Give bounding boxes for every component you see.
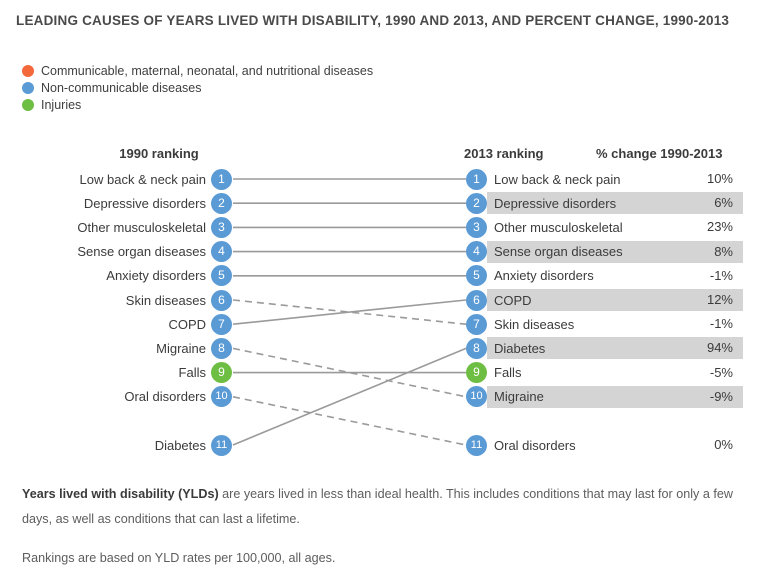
cause-label-2013: Low back & neck pain bbox=[494, 172, 620, 187]
rank-bubble-right-2[interactable]: 2 bbox=[466, 193, 487, 214]
row-content: 1Low back & neck pain10% bbox=[466, 168, 743, 190]
pct-change-value: 12% bbox=[707, 289, 733, 311]
pct-change-value: -5% bbox=[710, 362, 733, 384]
link-6-to-7 bbox=[233, 300, 466, 324]
row-content: 8Diabetes94% bbox=[466, 337, 743, 359]
ranking-row-1990[interactable]: Migraine8 bbox=[40, 337, 232, 359]
ranking-row-2013[interactable]: 3Other musculoskeletal23% bbox=[466, 216, 743, 238]
page-title: LEADING CAUSES OF YEARS LIVED WITH DISAB… bbox=[16, 8, 752, 34]
rank-bubble-left-11[interactable]: 11 bbox=[211, 435, 232, 456]
cause-label-2013: Migraine bbox=[494, 389, 544, 404]
cause-label-1990: Sense organ diseases bbox=[77, 244, 206, 259]
rank-bubble-left-8[interactable]: 8 bbox=[211, 338, 232, 359]
cause-label-2013: Sense organ diseases bbox=[494, 244, 623, 259]
rank-bubble-left-4[interactable]: 4 bbox=[211, 241, 232, 262]
cause-label-2013: Diabetes bbox=[494, 341, 545, 356]
ranking-row-2013[interactable]: 4Sense organ diseases8% bbox=[466, 241, 743, 263]
ranking-row-2013[interactable]: 11Oral disorders0% bbox=[466, 434, 743, 456]
ranking-row-2013[interactable]: 8Diabetes94% bbox=[466, 337, 743, 359]
rank-bubble-left-1[interactable]: 1 bbox=[211, 169, 232, 190]
rank-bubble-left-7[interactable]: 7 bbox=[211, 314, 232, 335]
ranking-row-2013[interactable]: 5Anxiety disorders-1% bbox=[466, 265, 743, 287]
cause-label-2013: Oral disorders bbox=[494, 438, 576, 453]
row-content: 3Other musculoskeletal23% bbox=[466, 216, 743, 238]
column-header-2013: 2013 ranking bbox=[464, 146, 544, 161]
cause-label-1990: COPD bbox=[168, 317, 206, 332]
pct-change-value: -1% bbox=[710, 265, 733, 287]
rank-bubble-right-7[interactable]: 7 bbox=[466, 314, 487, 335]
legend-item: Injuries bbox=[22, 97, 522, 112]
legend-color-dot bbox=[22, 99, 34, 111]
ranking-row-2013[interactable]: 7Skin diseases-1% bbox=[466, 313, 743, 335]
row-content: 6COPD12% bbox=[466, 289, 743, 311]
row-content: 10Migraine-9% bbox=[466, 386, 743, 408]
ranking-row-1990[interactable]: Other musculoskeletal3 bbox=[40, 216, 232, 238]
ranking-row-2013[interactable]: 1Low back & neck pain10% bbox=[466, 168, 743, 190]
rank-bubble-left-6[interactable]: 6 bbox=[211, 290, 232, 311]
note-definition: Years lived with disability (YLDs) are y… bbox=[22, 482, 750, 532]
cause-label-1990: Other musculoskeletal bbox=[77, 220, 206, 235]
legend-item: Communicable, maternal, neonatal, and nu… bbox=[22, 63, 522, 78]
ranking-row-2013[interactable]: 10Migraine-9% bbox=[466, 386, 743, 408]
pct-change-value: 6% bbox=[714, 192, 733, 214]
ranking-row-2013[interactable]: 9Falls-5% bbox=[466, 362, 743, 384]
link-11-to-8 bbox=[233, 348, 466, 445]
cause-label-2013: Falls bbox=[494, 365, 521, 380]
footnotes: Years lived with disability (YLDs) are y… bbox=[22, 482, 750, 585]
ranking-row-1990[interactable]: Anxiety disorders5 bbox=[40, 265, 232, 287]
rank-bubble-left-2[interactable]: 2 bbox=[211, 193, 232, 214]
cause-label-1990: Low back & neck pain bbox=[80, 172, 206, 187]
ranking-row-1990[interactable]: Falls9 bbox=[40, 362, 232, 384]
pct-change-value: -9% bbox=[710, 386, 733, 408]
ranking-row-1990[interactable]: Sense organ diseases4 bbox=[40, 241, 232, 263]
rank-bubble-right-8[interactable]: 8 bbox=[466, 338, 487, 359]
rank-bubble-right-6[interactable]: 6 bbox=[466, 290, 487, 311]
cause-label-1990: Diabetes bbox=[155, 438, 206, 453]
cause-label-1990: Depressive disorders bbox=[84, 196, 206, 211]
cause-label-1990: Oral disorders bbox=[124, 389, 206, 404]
row-content: 2Depressive disorders6% bbox=[466, 192, 743, 214]
rank-bubble-right-10[interactable]: 10 bbox=[466, 386, 487, 407]
pct-change-value: 23% bbox=[707, 216, 733, 238]
cause-label-1990: Falls bbox=[179, 365, 206, 380]
link-10-to-11 bbox=[233, 397, 466, 445]
row-content: 9Falls-5% bbox=[466, 362, 743, 384]
legend-item-label: Non-communicable diseases bbox=[41, 81, 202, 95]
rank-bubble-left-9[interactable]: 9 bbox=[211, 362, 232, 383]
rank-bubble-left-5[interactable]: 5 bbox=[211, 265, 232, 286]
row-content: 7Skin diseases-1% bbox=[466, 313, 743, 335]
cause-label-1990: Skin diseases bbox=[126, 293, 206, 308]
row-content: 11Oral disorders0% bbox=[466, 434, 743, 456]
row-content: 5Anxiety disorders-1% bbox=[466, 265, 743, 287]
pct-change-value: -1% bbox=[710, 313, 733, 335]
ranking-row-1990[interactable]: COPD7 bbox=[40, 313, 232, 335]
ranking-row-2013[interactable]: 2Depressive disorders6% bbox=[466, 192, 743, 214]
rank-bubble-right-1[interactable]: 1 bbox=[466, 169, 487, 190]
pct-change-value: 8% bbox=[714, 241, 733, 263]
rank-bubble-right-5[interactable]: 5 bbox=[466, 265, 487, 286]
row-content: 4Sense organ diseases8% bbox=[466, 241, 743, 263]
ranking-row-1990[interactable]: Low back & neck pain1 bbox=[40, 168, 232, 190]
cause-label-2013: Depressive disorders bbox=[494, 196, 616, 211]
column-header-pct-change: % change 1990-2013 bbox=[596, 146, 722, 161]
ranking-row-1990[interactable]: Skin diseases6 bbox=[40, 289, 232, 311]
legend-color-dot bbox=[22, 65, 34, 77]
cause-label-2013: Other musculoskeletal bbox=[494, 220, 623, 235]
cause-label-2013: Skin diseases bbox=[494, 317, 574, 332]
chart-container: LEADING CAUSES OF YEARS LIVED WITH DISAB… bbox=[0, 0, 768, 572]
cause-label-1990: Migraine bbox=[156, 341, 206, 356]
legend-color-dot bbox=[22, 82, 34, 94]
column-header-1990: 1990 ranking bbox=[86, 146, 232, 161]
cause-label-2013: Anxiety disorders bbox=[494, 268, 594, 283]
note-definition-term: Years lived with disability (YLDs) bbox=[22, 487, 219, 501]
legend-item: Non-communicable diseases bbox=[22, 80, 522, 95]
cause-label-2013: COPD bbox=[494, 293, 532, 308]
legend: Communicable, maternal, neonatal, and nu… bbox=[22, 63, 522, 114]
rank-bubble-right-4[interactable]: 4 bbox=[466, 241, 487, 262]
rank-bubble-right-9[interactable]: 9 bbox=[466, 362, 487, 383]
link-8-to-10 bbox=[233, 348, 466, 396]
ranking-row-1990[interactable]: Depressive disorders2 bbox=[40, 192, 232, 214]
rank-bubble-left-10[interactable]: 10 bbox=[211, 386, 232, 407]
rank-bubble-right-3[interactable]: 3 bbox=[466, 217, 487, 238]
ranking-row-2013[interactable]: 6COPD12% bbox=[466, 289, 743, 311]
cause-label-1990: Anxiety disorders bbox=[106, 268, 206, 283]
link-7-to-6 bbox=[233, 300, 466, 324]
ranking-row-1990[interactable]: Oral disorders10 bbox=[40, 386, 232, 408]
legend-item-label: Injuries bbox=[41, 98, 81, 112]
pct-change-value: 0% bbox=[714, 434, 733, 456]
legend-item-label: Communicable, maternal, neonatal, and nu… bbox=[41, 64, 373, 78]
pct-change-value: 10% bbox=[707, 168, 733, 190]
note-methodology: Rankings are based on YLD rates per 100,… bbox=[22, 546, 750, 571]
ranking-row-1990[interactable]: Diabetes11 bbox=[40, 434, 232, 456]
pct-change-value: 94% bbox=[707, 337, 733, 359]
rank-bubble-left-3[interactable]: 3 bbox=[211, 217, 232, 238]
rank-bubble-right-11[interactable]: 11 bbox=[466, 435, 487, 456]
